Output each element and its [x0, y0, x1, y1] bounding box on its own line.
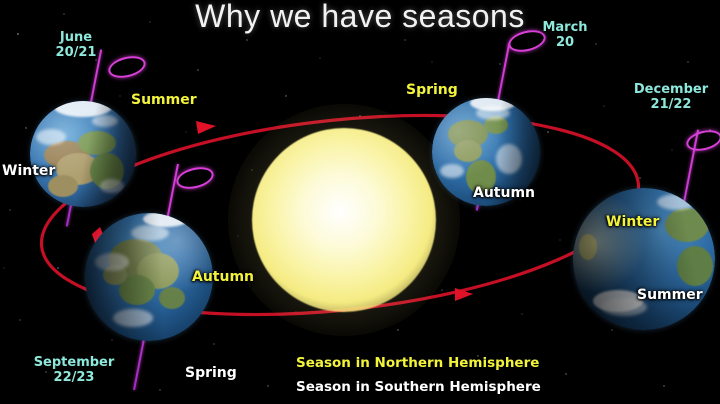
season-label-march-southern: Autumn: [473, 186, 535, 202]
date-line-2: 20/21: [36, 46, 116, 61]
date-line-2: 21/22: [625, 98, 717, 113]
date-line-1: December: [625, 83, 717, 98]
season-label-september-northern: Autumn: [192, 270, 254, 286]
legend-northern-hemisphere: Season in Northern Hemisphere: [296, 355, 539, 371]
date-line-1: September: [20, 356, 128, 371]
date-line-2: 20: [530, 36, 600, 51]
season-label-june-northern: Summer: [131, 93, 197, 109]
seasons-diagram: June 20/21 Summer Winter September 22/23…: [0, 0, 720, 404]
season-label-september-southern: Spring: [185, 366, 237, 382]
terminator-shading: [30, 101, 136, 207]
terminator-shading: [573, 188, 715, 330]
sun: [252, 128, 436, 312]
season-label-december-northern: Winter: [606, 215, 659, 231]
date-label-september: September 22/23: [20, 356, 128, 385]
earth-globe-june: [30, 101, 136, 207]
legend-southern-hemisphere: Season in Southern Hemisphere: [296, 379, 541, 395]
season-label-december-southern: Summer: [637, 288, 703, 304]
date-line-2: 22/23: [20, 371, 128, 386]
page-title: Why we have seasons: [0, 0, 720, 35]
date-label-december: December 21/22: [625, 83, 717, 112]
date-label-june: June 20/21: [36, 31, 116, 60]
earth-globe-december: [573, 188, 715, 330]
season-label-march-northern: Spring: [406, 83, 458, 99]
season-label-june-southern: Winter: [2, 164, 55, 180]
